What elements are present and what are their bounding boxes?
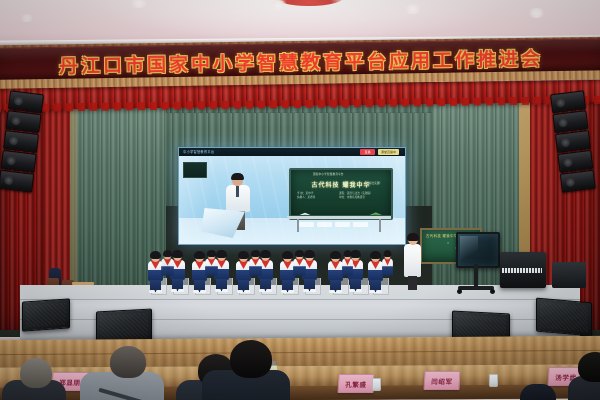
on-screen-blackboard: 国家中小学智慧教育平台 古代科技 耀我中华 （综合实践） 学 校：某中学 执教人…	[289, 168, 393, 220]
presenter-hair	[231, 173, 244, 180]
student-uniform-bottom	[293, 266, 306, 275]
audience-head	[230, 340, 272, 378]
speaker-grille	[540, 302, 588, 332]
student-figure	[368, 252, 383, 292]
student-shoe	[178, 289, 184, 292]
presenter-tie	[236, 186, 239, 197]
student-shoe	[259, 289, 265, 292]
student-shoe	[200, 290, 206, 293]
piano-keys	[502, 268, 542, 273]
speaker-module	[0, 170, 34, 193]
student-hair	[251, 250, 260, 257]
student-hair	[282, 251, 293, 259]
stage-equipment-rack	[552, 262, 586, 288]
blackboard-meta-right: 课程：道德与法治（实践版） 单位：市教育局教研室	[339, 192, 373, 200]
student-shoe	[356, 289, 362, 292]
nameplate-text: 孔繁盛	[345, 379, 367, 389]
downlight	[20, 14, 34, 22]
student-figure	[328, 252, 343, 292]
status-badge: 课堂直播中	[378, 149, 399, 155]
downlight	[404, 4, 421, 14]
auditorium-screenshot: 丹江口市国家中小学智慧教育平台应用工作推进会 中小学智慧教育平台 直播 课堂直播…	[0, 0, 600, 400]
teacher-legs	[408, 276, 417, 290]
floor-monitor-speaker	[22, 298, 70, 331]
student-hair	[238, 251, 249, 259]
screen-platform-label: 中小学智慧教育平台	[183, 149, 214, 154]
student-shoe	[336, 290, 342, 293]
teacher-white-coat	[404, 244, 421, 277]
student-figure-back-row	[249, 251, 262, 285]
downlight	[268, 0, 288, 11]
student-shoe	[349, 289, 355, 292]
display-monitor	[456, 232, 500, 268]
speaker-grille	[26, 303, 66, 328]
student-shoe	[329, 290, 335, 293]
student-shoe	[369, 290, 375, 293]
desk-tile	[299, 222, 314, 227]
student-uniform-bottom	[205, 266, 218, 275]
audience-head	[20, 358, 52, 388]
desk-tile	[317, 222, 332, 227]
student-shoe	[303, 289, 309, 292]
student-hair	[344, 250, 352, 257]
student-hair	[295, 250, 304, 257]
student-shoe	[171, 289, 177, 292]
student-figure-back-row	[205, 251, 218, 285]
projection-screen: 中小学智慧教育平台 直播 课堂直播中 国家中小学智慧教育平台 古代科技 耀我中华…	[178, 147, 406, 245]
monitor-caster	[457, 289, 462, 294]
blackboard-subtitle: （综合实践）	[366, 181, 382, 185]
student-hair	[330, 251, 341, 259]
student-figure-back-row	[293, 251, 306, 285]
student-shoe	[237, 290, 243, 293]
teacher-hair	[407, 233, 419, 241]
monitor-stand-base	[458, 286, 494, 290]
blackboard-supertitle: 国家中小学智慧教育平台	[313, 172, 344, 176]
student-hair	[150, 251, 161, 259]
student-hair	[163, 250, 172, 257]
student-figure-back-row	[382, 251, 393, 285]
monitor-glare	[460, 236, 478, 262]
desk-tile	[335, 222, 350, 227]
student-figure-back-row	[161, 251, 174, 285]
student-hair	[384, 250, 392, 257]
nameplate: 孔繁盛	[338, 374, 375, 393]
student-shoe	[193, 290, 199, 293]
student-shoe	[149, 290, 155, 293]
audience-head	[110, 346, 146, 378]
student-shoe	[266, 289, 272, 292]
student-uniform-bottom	[249, 266, 262, 275]
student-shoe	[281, 290, 287, 293]
student-shoe	[244, 290, 250, 293]
screen-top-bar: 中小学智慧教育平台 直播 课堂直播中	[179, 148, 405, 156]
blackboard-meta-left: 学 校：某中学 执教人：某老师	[297, 192, 315, 200]
paper-cup	[489, 374, 498, 387]
student-hair	[370, 251, 381, 259]
student-hair	[194, 251, 205, 259]
student-uniform-bottom	[342, 266, 353, 275]
student-shoe	[288, 290, 294, 293]
student-hair	[207, 250, 216, 257]
student-shoe	[156, 290, 162, 293]
student-shoe	[215, 289, 221, 292]
nameplate-text: 闫绍军	[431, 376, 453, 386]
monitor-caster	[490, 289, 495, 294]
downlight	[528, 8, 545, 18]
audience-head	[578, 352, 600, 382]
nameplate: 闫绍军	[424, 371, 461, 390]
on-screen-student-desks	[299, 222, 368, 227]
student-shoe	[222, 289, 228, 292]
student-figure-back-row	[342, 251, 353, 285]
audience-body	[520, 384, 556, 400]
desk-tile	[353, 222, 368, 227]
live-badge: 直播	[360, 149, 375, 155]
on-screen-desk	[287, 216, 391, 219]
student-shoe	[310, 289, 316, 292]
student-uniform-bottom	[382, 266, 393, 275]
speaker-module	[560, 170, 596, 193]
paper-cup	[372, 378, 381, 391]
floor-monitor-speaker	[536, 298, 592, 337]
screen-side-panel	[183, 162, 207, 178]
student-uniform-bottom	[161, 266, 174, 275]
floor-seam	[20, 299, 580, 300]
teacher-figure	[404, 234, 421, 290]
monitor-stand-column	[474, 264, 478, 288]
speaker-grille	[100, 313, 148, 342]
chalkboard-heading: 古代科技 耀我中华	[426, 233, 458, 238]
student-shoe	[376, 290, 382, 293]
